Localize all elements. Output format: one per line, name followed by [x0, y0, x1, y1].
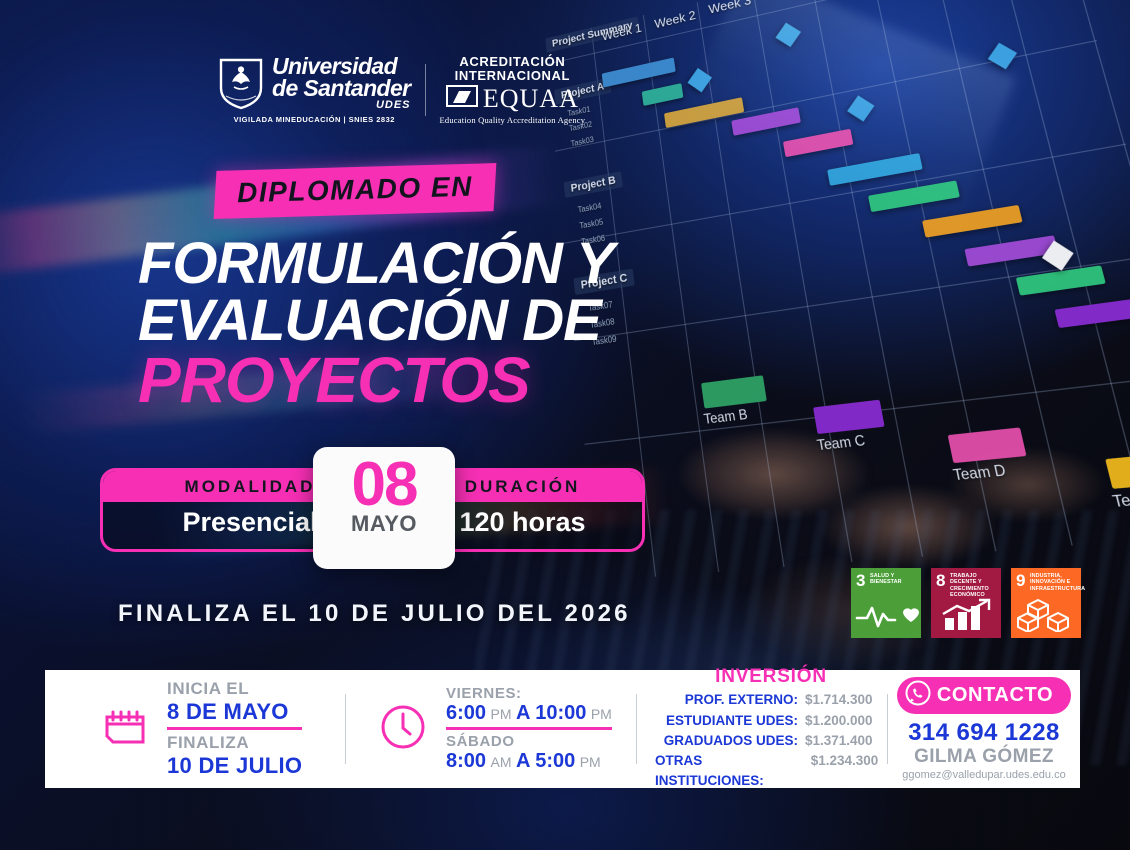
- friday-from-ampm: PM: [490, 706, 511, 722]
- gantt-task-label: Task04: [577, 201, 602, 214]
- gantt-bar: [783, 129, 853, 157]
- investment-value: $1.234.300: [811, 751, 887, 792]
- clock-icon: [376, 700, 430, 759]
- gantt-task-label: Task03: [570, 135, 594, 148]
- investment-label: PROF. EXTERNO:: [685, 690, 798, 710]
- page-title-line-3: PROYECTOS: [138, 352, 530, 408]
- logo-row: Universidad de Santander UDES VIGILADA M…: [218, 55, 585, 125]
- heartbeat-icon: [851, 598, 921, 632]
- gantt-team-label: Team E: [1111, 487, 1130, 511]
- dates-text: INICIA EL 8 DE MAYO FINALIZA 10 DE JULIO: [167, 679, 302, 779]
- gantt-milestone-diamond: [847, 95, 874, 121]
- gantt-team-label: Team D: [952, 461, 1008, 484]
- gantt-project-label: Project B: [564, 171, 624, 198]
- contact-name: GILMA GÓMEZ: [914, 747, 1054, 768]
- investment-label: ESTUDIANTE UDES:: [666, 711, 798, 731]
- investment-column: INVERSIÓN PROF. EXTERNO:$1.714.300ESTUDI…: [637, 670, 887, 788]
- equaa-tagline: Education Quality Accreditation Agency: [440, 115, 586, 125]
- start-label: INICIA EL: [167, 679, 302, 699]
- udes-line-2: de Santander: [272, 78, 411, 99]
- gantt-team-bar: [948, 427, 1027, 463]
- contact-column: CONTACTO 314 694 1228 GILMA GÓMEZ ggomez…: [888, 670, 1080, 788]
- udes-legal-text: VIGILADA MINEDUCACIÓN | SNIES 2832: [234, 115, 395, 124]
- gantt-week-header: Week 3: [701, 0, 760, 21]
- start-value: 8 DE MAYO: [167, 699, 302, 725]
- gantt-team-bar: [701, 375, 767, 408]
- gantt-team-bar: [1105, 452, 1130, 489]
- gantt-gridline: [574, 255, 1130, 342]
- gantt-team-label: Team C: [816, 432, 867, 454]
- start-date-card: 08 MAYO: [313, 447, 455, 569]
- gantt-bars-group: [540, 0, 1130, 4]
- investment-row: PROF. EXTERNO:$1.714.300: [655, 690, 887, 710]
- info-bar: INICIA EL 8 DE MAYO FINALIZA 10 DE JULIO…: [45, 670, 1080, 788]
- equaa-line-1: ACREDITACIÓN: [459, 55, 565, 69]
- gantt-milestone-diamond: [775, 23, 801, 47]
- saturday-from: 8:00: [446, 750, 486, 772]
- friday-to-ampm: PM: [591, 706, 612, 722]
- investment-row: ESTUDIANTE UDES:$1.200.000: [655, 711, 887, 731]
- end-label: FINALIZA: [167, 733, 302, 753]
- equaa-logo: ACREDITACIÓN INTERNACIONAL EQUAA Educati…: [440, 55, 586, 125]
- investment-value: $1.200.000: [805, 711, 887, 731]
- saturday-from-ampm: AM: [490, 754, 511, 770]
- logo-divider: [425, 64, 426, 116]
- dates-rule: [167, 727, 302, 730]
- sdg-text: INDUSTRIA, INNOVACIÓN E INFRAESTRUCTURA: [1030, 573, 1078, 592]
- udes-logo: Universidad de Santander UDES VIGILADA M…: [218, 56, 411, 124]
- contact-email[interactable]: ggomez@valledupar.udes.edu.co: [902, 769, 1065, 781]
- investment-label: OTRAS INSTITUCIONES:: [655, 751, 804, 792]
- sdg-text: TRABAJO DECENTE Y CRECIMIENTO ECONÓMICO: [950, 573, 998, 599]
- gantt-bar: [602, 57, 676, 87]
- equaa-line-2: INTERNACIONAL: [455, 69, 570, 83]
- gantt-gridline: [697, 2, 785, 567]
- shield-eagle-icon: [218, 56, 264, 110]
- gantt-bar: [1054, 297, 1130, 328]
- whatsapp-icon: [905, 680, 931, 711]
- gantt-bar: [642, 83, 684, 106]
- investment-title: INVERSIÓN: [715, 666, 827, 688]
- investment-value: $1.371.400: [805, 731, 887, 751]
- contact-phone[interactable]: 314 694 1228: [908, 719, 1060, 747]
- gantt-gridline: [810, 0, 923, 557]
- gantt-week-header: Week 2: [647, 3, 704, 35]
- equaa-frame-icon: [446, 84, 478, 113]
- cubes-icon: [1011, 598, 1081, 632]
- saturday-to-ampm: PM: [580, 754, 601, 770]
- investment-label: GRADUADOS UDES:: [664, 731, 798, 751]
- investment-value: $1.714.300: [805, 690, 887, 710]
- contact-label: CONTACTO: [937, 684, 1053, 707]
- calendar-icon: [97, 700, 151, 759]
- gantt-bar: [964, 235, 1058, 266]
- saturday-to: A 5:00: [516, 750, 575, 772]
- gantt-team-label: Team B: [703, 406, 749, 428]
- sdg-number: 3: [856, 572, 865, 589]
- gantt-gridline: [752, 0, 852, 562]
- friday-hours: 6:00 PM A 10:00 PM: [446, 702, 612, 725]
- investment-row: OTRAS INSTITUCIONES:$1.234.300: [655, 751, 887, 792]
- sdg-number: 8: [936, 572, 945, 589]
- growth-chart-icon: [931, 598, 1001, 632]
- end-value: 10 DE JULIO: [167, 753, 302, 779]
- page-title-line-2: EVALUACIÓN DE: [138, 295, 601, 346]
- gantt-bar: [868, 180, 960, 212]
- gantt-milestones-group: [540, 0, 1130, 4]
- investment-row: GRADUADOS UDES:$1.371.400: [655, 731, 887, 751]
- saturday-label: SÁBADO: [446, 733, 612, 750]
- schedule-text: VIERNES: 6:00 PM A 10:00 PM SÁBADO 8:00 …: [446, 685, 612, 773]
- contact-badge[interactable]: CONTACTO: [897, 677, 1071, 714]
- friday-label: VIERNES:: [446, 685, 612, 702]
- udes-wordmark: Universidad de Santander UDES: [272, 56, 411, 110]
- end-date-banner: FINALIZA EL 10 DE JULIO DEL 2026: [118, 600, 631, 628]
- page-title-line-1: FORMULACIÓN Y: [138, 238, 614, 289]
- friday-from: 6:00: [446, 702, 486, 724]
- start-date-day: 08: [313, 447, 455, 515]
- udes-line-3: UDES: [272, 100, 411, 110]
- investment-rows: PROF. EXTERNO:$1.714.300ESTUDIANTE UDES:…: [655, 690, 887, 791]
- equaa-wordmark: EQUAA: [483, 86, 579, 112]
- sdg-card-9: 9 INDUSTRIA, INNOVACIÓN E INFRAESTRUCTUR…: [1011, 568, 1081, 638]
- gantt-milestone-diamond: [988, 43, 1017, 70]
- sdg-card-8: 8 TRABAJO DECENTE Y CRECIMIENTO ECONÓMIC…: [931, 568, 1001, 638]
- schedule-column: VIERNES: 6:00 PM A 10:00 PM SÁBADO 8:00 …: [346, 670, 636, 788]
- gantt-bar: [922, 205, 1023, 238]
- schedule-rule: [446, 727, 612, 730]
- sdg-icons-row: 3 SALUD Y BIENESTAR 8 TRABAJO DECENTE Y …: [851, 568, 1081, 638]
- dates-column: INICIA EL 8 DE MAYO FINALIZA 10 DE JULIO: [45, 670, 345, 788]
- gantt-task-label: Task05: [579, 217, 604, 230]
- saturday-hours: 8:00 AM A 5:00 PM: [446, 750, 612, 773]
- diplomado-badge: DIPLOMADO EN: [214, 163, 497, 219]
- diplomado-badge-label: DIPLOMADO EN: [237, 171, 474, 210]
- friday-to: A 10:00: [516, 702, 586, 724]
- sdg-text: SALUD Y BIENESTAR: [870, 573, 918, 586]
- promotional-poster: Project Summary Week 1 Week 2 Week 3 Wee…: [0, 0, 1130, 850]
- sdg-card-3: 3 SALUD Y BIENESTAR: [851, 568, 921, 638]
- sdg-number: 9: [1016, 572, 1025, 589]
- start-date-month: MAYO: [313, 511, 455, 537]
